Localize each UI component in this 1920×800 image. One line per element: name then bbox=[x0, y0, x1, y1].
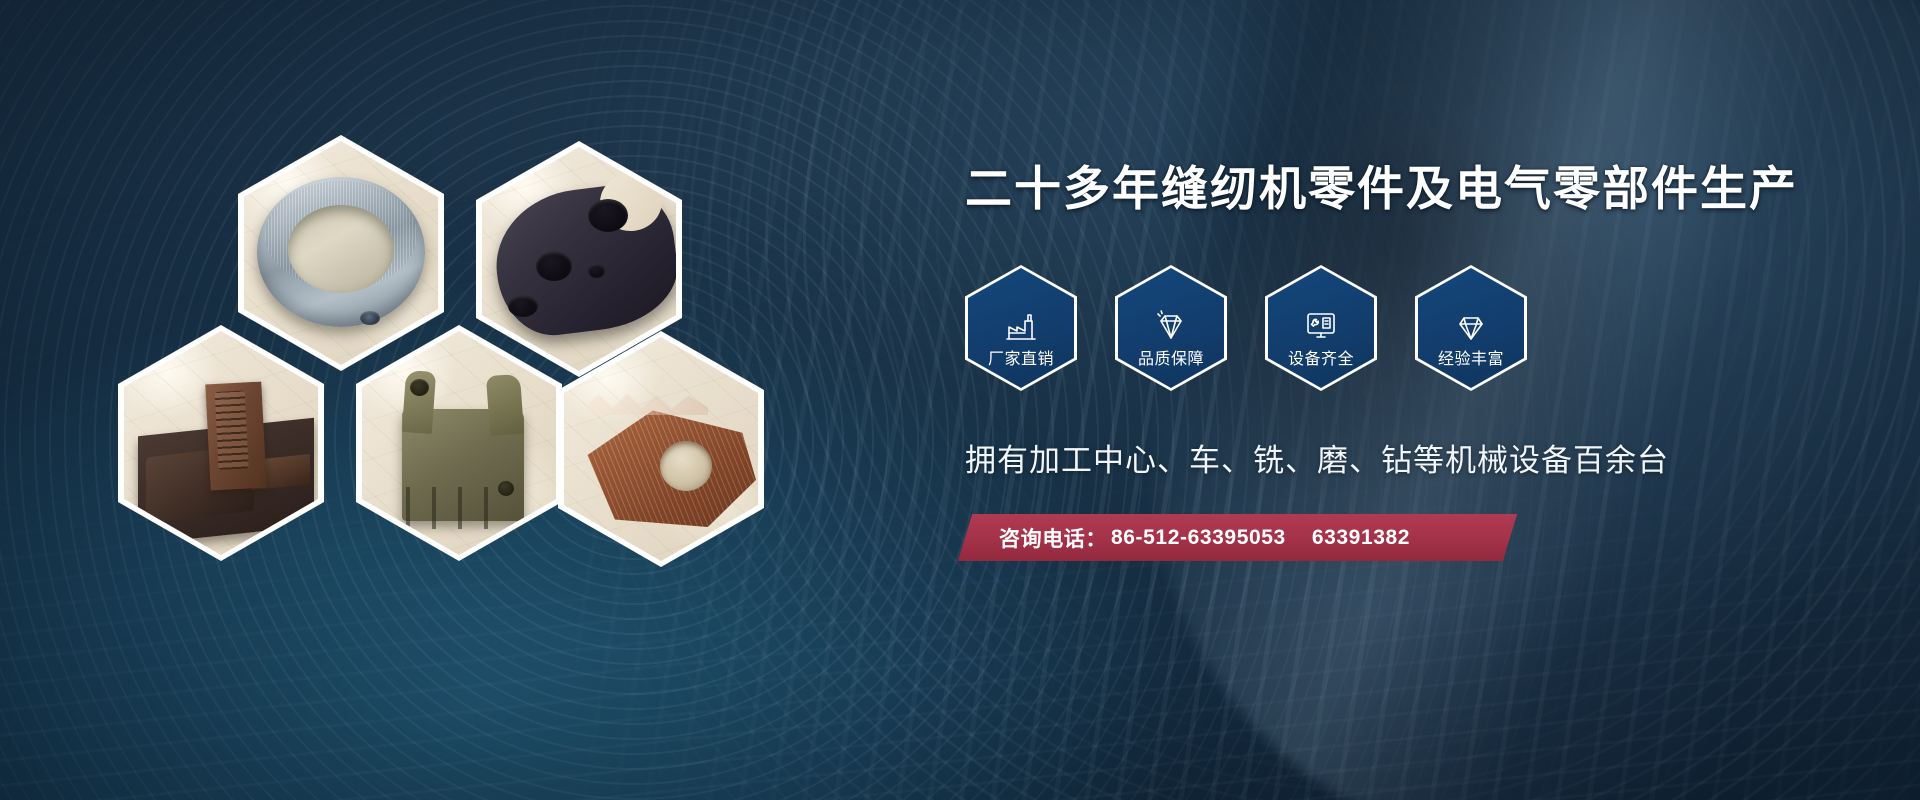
product-photo-metal-collar-ring[interactable] bbox=[238, 135, 444, 371]
cam-plate-hole bbox=[508, 295, 538, 317]
badge-label: 经验丰富 bbox=[1438, 345, 1504, 369]
feature-badge-rich-experience[interactable]: 经验丰富 bbox=[1415, 265, 1527, 391]
collar-inner-bore bbox=[288, 205, 394, 293]
fork-bracket-side-hole bbox=[498, 481, 514, 496]
feature-badge-row: 厂家直销 品质保障 bbox=[965, 265, 1785, 391]
cam-plate-hole bbox=[536, 251, 572, 281]
cam-plate-hole bbox=[588, 263, 605, 278]
feature-badge-quality-assurance[interactable]: 品质保障 bbox=[1115, 265, 1227, 391]
badge-label: 厂家直销 bbox=[988, 345, 1054, 369]
banner-headline: 二十多年缝纫机零件及电气零部件生产 bbox=[965, 150, 1785, 219]
banner-content: 二十多年缝纫机零件及电气零部件生产 厂家直销 bbox=[965, 150, 1785, 561]
fork-bracket-eye-hole bbox=[410, 379, 429, 396]
contact-label: 咨询电话： bbox=[999, 523, 1107, 553]
monitor-wrench-icon bbox=[1304, 302, 1338, 342]
factory-icon bbox=[1004, 302, 1038, 342]
product-photo-cluster bbox=[118, 135, 758, 525]
gem-icon bbox=[1454, 302, 1488, 342]
contact-phone-secondary[interactable]: 63391382 bbox=[1312, 526, 1410, 550]
promo-banner: 二十多年缝纫机零件及电气零部件生产 厂家直销 bbox=[0, 0, 1920, 800]
cam-plate-hole bbox=[588, 199, 628, 232]
copper-part-bore bbox=[660, 441, 712, 491]
vise-jaw bbox=[205, 382, 266, 491]
fork-bracket-ribs bbox=[406, 487, 502, 529]
fork-bracket-arm bbox=[486, 374, 524, 436]
contact-phone-banner[interactable]: 咨询电话： 86-512-63395053 63391382 bbox=[965, 514, 1510, 561]
badge-label: 品质保障 bbox=[1138, 345, 1204, 369]
contact-phone-primary[interactable]: 86-512-63395053 bbox=[1111, 526, 1286, 550]
contact-banner-text: 咨询电话： 86-512-63395053 63391382 bbox=[965, 514, 1510, 561]
banner-subline: 拥有加工中心、车、铣、磨、钻等机械设备百余台 bbox=[965, 435, 1785, 480]
feature-badge-factory-direct[interactable]: 厂家直销 bbox=[965, 265, 1077, 391]
badge-label: 设备齐全 bbox=[1288, 345, 1354, 369]
feature-badge-full-equipment[interactable]: 设备齐全 bbox=[1265, 265, 1377, 391]
diamond-icon bbox=[1154, 302, 1188, 342]
